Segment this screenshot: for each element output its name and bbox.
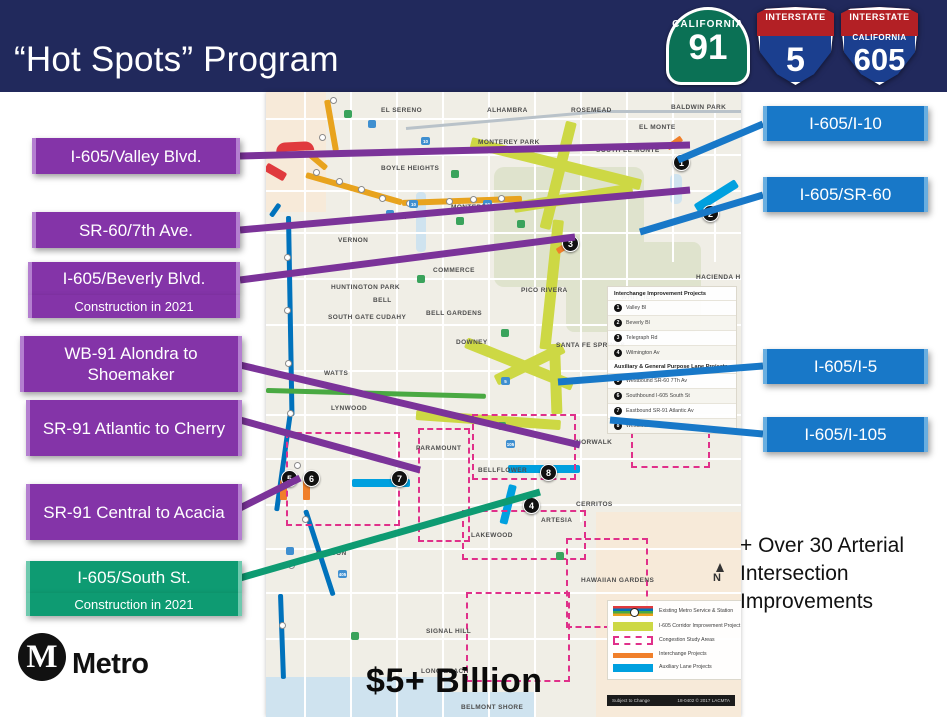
legend-item: 3Telegraph Rd [608, 330, 736, 345]
callout-sr60-7th-ave[interactable]: SR-60/7th Ave. [32, 212, 240, 248]
map-city-label: CUDAHY [376, 314, 406, 322]
auxiliary-swatch [613, 664, 653, 672]
callout-sr91-central-acacia[interactable]: SR-91 Central to Acacia [26, 484, 242, 540]
map-city-label: VERNON [338, 237, 368, 245]
route-shield-i-605: INTERSTATE CALIFORNIA 605 [841, 7, 918, 85]
map-footer-bar: Subject to Change 18-0402 © 2017 LACMTA [607, 695, 735, 706]
map-city-label: DOWNEY [456, 339, 488, 347]
map-city-label: BELL [373, 297, 392, 305]
callout-label: SR-91 Atlantic to Cherry [43, 418, 225, 439]
map-city-label: LAKEWOOD [471, 532, 513, 540]
callout-label: I-605/I-105 [804, 424, 886, 445]
legend-item-label: Telegraph Rd [626, 335, 658, 341]
map-city-label: WATTS [324, 370, 348, 378]
shield-number: 5 [757, 43, 834, 77]
legend-item-label: Westbound SR-91 [626, 423, 669, 429]
legend-key-label: Interchange Projects [659, 651, 707, 658]
map-city-label: CARSON [316, 550, 347, 558]
map-city-label: SOUTH GATE [328, 314, 374, 322]
legend-key-row: Existing Metro Service & Station [613, 606, 741, 616]
callout-i605-sr60[interactable]: I-605/SR-60 [763, 177, 928, 212]
callout-sublabel: Construction in 2021 [74, 299, 193, 314]
map-city-label: MONTEBELLO [451, 204, 501, 212]
callout-label: WB-91 Alondra to Shoemaker [34, 343, 228, 385]
map-city-label: LYNWOOD [331, 405, 367, 413]
legend-interchange-items: 1Valley Bl2Beverly Bl3Telegraph Rd4Wilmi… [608, 300, 736, 360]
map-city-label: SOUTH EL MONTE [596, 147, 660, 155]
callout-i605-i105[interactable]: I-605/I-105 [763, 417, 928, 452]
legend-item-number: 3 [614, 334, 622, 342]
legend-item-label: Westbound SR-60 7Th Av [626, 378, 687, 384]
callout-sublabel: Construction in 2021 [74, 597, 193, 612]
callout-i605-beverly-blvd-note: Construction in 2021 [28, 295, 240, 318]
map-city-label: PICO RIVERA [521, 287, 568, 295]
highway-shield-group: CALIFORNIA 91 INTERSTATE 5 INTERSTATE CA… [666, 7, 918, 85]
legend-item: 5Westbound SR-60 7Th Av [608, 373, 736, 388]
callout-i605-south-st[interactable]: I-605/South St. [26, 561, 242, 593]
legend-item-number: 8 [614, 422, 622, 430]
metro-service-swatch [613, 606, 653, 616]
map-legend-projects: Interchange Improvement Projects 1Valley… [607, 286, 737, 434]
legend-key-row: I-605 Corridor Improvement Project [613, 621, 741, 631]
map-disclaimer: Subject to Change [612, 698, 650, 703]
map-city-label: NORWALK [576, 439, 612, 447]
map-city-label: ROSEMEAD [571, 107, 612, 115]
legend-key-row: Congestion Study Areas [613, 636, 741, 645]
callout-label: I-605/Valley Blvd. [70, 146, 201, 167]
map-city-label: SIGNAL HILL [426, 628, 471, 636]
legend-section-title-interchange: Interchange Improvement Projects [608, 287, 736, 300]
map-city-label: BELMONT SHORE [461, 704, 523, 712]
map-marker-2[interactable]: 2 [702, 205, 719, 222]
corridor-swatch [613, 622, 653, 631]
legend-item: 4Wilmington Av [608, 345, 736, 360]
legend-item-number: 7 [614, 407, 622, 415]
north-arrow-icon: N [713, 572, 721, 584]
legend-key-row: Interchange Projects [613, 650, 741, 658]
callout-label: I-605/I-5 [814, 356, 877, 377]
legend-key-label: Existing Metro Service & Station [659, 608, 733, 615]
map-city-label: BALDWIN PARK [671, 104, 726, 112]
interchange-swatch [613, 653, 653, 658]
shield-interstate-label: INTERSTATE [757, 12, 834, 22]
callout-i605-i10[interactable]: I-605/I-10 [763, 106, 928, 141]
map-city-label: PARAMOUNT [416, 445, 461, 453]
map-city-label: COMMERCE [433, 267, 475, 275]
legend-item: 2Beverly Bl [608, 315, 736, 330]
legend-item-label: Eastbound SR-91 Atlantic Av [626, 408, 694, 414]
map-city-label: HUNTINGTON PARK [331, 284, 400, 292]
legend-key-row: Auxiliary Lane Projects [613, 663, 741, 672]
legend-item-number: 1 [614, 304, 622, 312]
map-city-label: HACIENDA HEIGHTS [696, 274, 741, 282]
legend-item-number: 4 [614, 349, 622, 357]
legend-item: 1Valley Bl [608, 300, 736, 315]
map-marker-7[interactable]: 7 [391, 470, 408, 487]
map-marker-8[interactable]: 8 [540, 464, 557, 481]
page-title: “Hot Spots” Program [14, 40, 339, 80]
project-map[interactable]: 10 60 5 105 405 10 EL SERENOALHAMBRAROSE… [266, 92, 741, 717]
map-marker-6[interactable]: 6 [303, 470, 320, 487]
congestion-swatch [613, 636, 653, 645]
map-city-label: EL MONTE [639, 124, 676, 132]
map-city-label: EL SERENO [381, 107, 422, 115]
route-shield-ca-91: CALIFORNIA 91 [666, 7, 750, 85]
map-city-label: BELL GARDENS [426, 310, 482, 318]
callout-sr91-atlantic-cherry[interactable]: SR-91 Atlantic to Cherry [26, 400, 242, 456]
callout-label: I-605/South St. [77, 567, 190, 588]
legend-item-number: 5 [614, 377, 622, 385]
map-city-label: BOYLE HEIGHTS [381, 165, 439, 173]
metro-logo: M Metro [18, 633, 148, 681]
legend-item: 6Southbound I-605 South St [608, 388, 736, 403]
map-city-label: ALHAMBRA [487, 107, 528, 115]
legend-item: 7Eastbound SR-91 Atlantic Av [608, 403, 736, 418]
legend-item-number: 2 [614, 319, 622, 327]
callout-i605-beverly-blvd[interactable]: I-605/Beverly Blvd. [28, 262, 240, 295]
shield-number: 91 [689, 31, 728, 64]
callout-i605-south-st-note: Construction in 2021 [26, 593, 242, 616]
legend-item-label: Valley Bl [626, 305, 646, 311]
callout-label: SR-91 Central to Acacia [43, 502, 224, 523]
callout-label: SR-60/7th Ave. [79, 220, 193, 241]
map-city-label: CERRITOS [576, 501, 613, 509]
arterial-improvements-note: + Over 30 Arterial Intersection Improvem… [740, 532, 940, 616]
metro-wordmark: Metro [72, 648, 148, 681]
route-shield-i-5: INTERSTATE 5 [757, 7, 834, 85]
callout-wb91-alondra-shoemaker[interactable]: WB-91 Alondra to Shoemaker [20, 336, 242, 392]
legend-item-label: Wilmington Av [626, 350, 659, 356]
map-city-label: BELLFLOWER [478, 467, 527, 475]
legend-key-label: I-605 Corridor Improvement Project [659, 623, 740, 630]
map-city-label: MONTEREY PARK [478, 139, 540, 147]
callout-i605-i5[interactable]: I-605/I-5 [763, 349, 928, 384]
shield-state-label: CALIFORNIA [841, 33, 918, 42]
callout-label: I-605/SR-60 [800, 184, 892, 205]
metro-m-icon: M [18, 633, 66, 681]
callout-label: I-605/Beverly Blvd. [63, 268, 206, 289]
callout-i605-valley-blvd[interactable]: I-605/Valley Blvd. [32, 138, 240, 174]
page-header: “Hot Spots” Program CALIFORNIA 91 INTERS… [0, 0, 947, 92]
map-marker-4[interactable]: 4 [523, 497, 540, 514]
map-marker-3[interactable]: 3 [562, 235, 579, 252]
map-copyright: 18-0402 © 2017 LACMTA [677, 698, 730, 703]
legend-item-label: Beverly Bl [626, 320, 650, 326]
map-city-label: HAWAIIAN GARDENS [581, 577, 654, 585]
legend-item-number: 6 [614, 392, 622, 400]
callout-label: I-605/I-10 [809, 113, 882, 134]
map-marker-5[interactable]: 5 [281, 470, 298, 487]
map-marker-1[interactable]: 1 [673, 154, 690, 171]
map-city-label: ARTESIA [541, 517, 572, 525]
map-city-label: EAST LA [376, 214, 407, 222]
legend-item-label: Southbound I-605 South St [626, 393, 690, 399]
map-legend-key: Existing Metro Service & Station I-605 C… [607, 600, 741, 680]
legend-auxiliary-items: 5Westbound SR-60 7Th Av6Southbound I-605… [608, 373, 736, 433]
legend-section-title-auxiliary: Auxiliary & General Purpose Lane Project… [608, 360, 736, 373]
legend-key-label: Auxiliary Lane Projects [659, 664, 712, 671]
legend-key-label: Congestion Study Areas [659, 637, 715, 644]
legend-item: 8Westbound SR-91 [608, 418, 736, 433]
shield-number: 605 [841, 43, 918, 77]
shield-interstate-label: INTERSTATE [841, 12, 918, 22]
total-cost-label: $5+ Billion [366, 662, 543, 701]
